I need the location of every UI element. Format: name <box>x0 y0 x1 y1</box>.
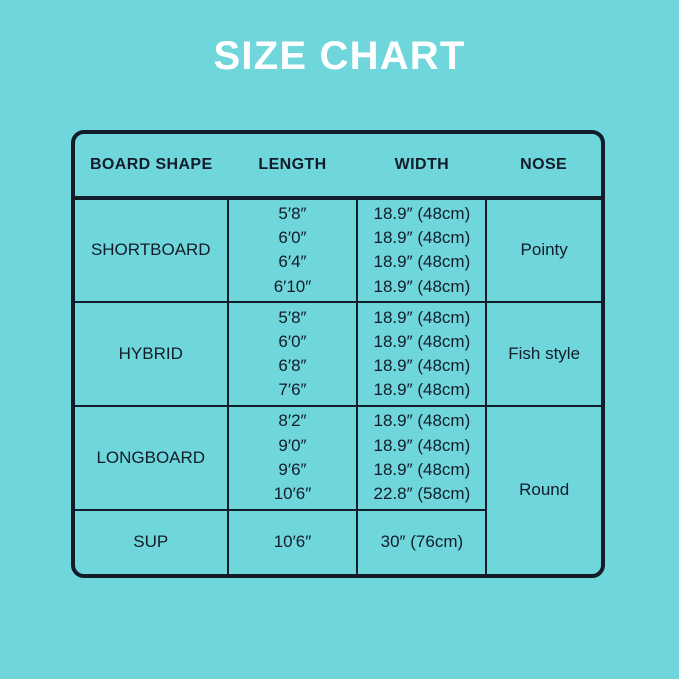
length-value: 6′8″ <box>278 354 306 378</box>
length-value: 6′0″ <box>278 226 306 250</box>
cell-length: 5′8″ 6′0″ 6′4″ 6′10″ <box>228 198 358 302</box>
width-value-list: 18.9″ (48cm) 18.9″ (48cm) 18.9″ (48cm) 1… <box>358 306 485 403</box>
cell-width: 18.9″ (48cm) 18.9″ (48cm) 18.9″ (48cm) 1… <box>357 302 486 406</box>
cell-board-shape: HYBRID <box>75 302 228 406</box>
width-value: 18.9″ (48cm) <box>374 354 471 378</box>
width-value-list: 30″ (76cm) <box>358 530 485 554</box>
cell-width: 18.9″ (48cm) 18.9″ (48cm) 18.9″ (48cm) 2… <box>357 406 486 510</box>
cell-nose: Round <box>486 406 601 574</box>
table-row: SHORTBOARD 5′8″ 6′0″ 6′4″ 6′10″ 18.9″ (4… <box>75 198 601 302</box>
length-value: 5′8″ <box>278 306 306 330</box>
size-chart-table-container: BOARD SHAPE LENGTH WIDTH NOSE SHORTBOARD… <box>71 130 605 578</box>
cell-width: 18.9″ (48cm) 18.9″ (48cm) 18.9″ (48cm) 1… <box>357 198 486 302</box>
width-value: 30″ (76cm) <box>381 530 464 554</box>
length-value: 6′4″ <box>278 250 306 274</box>
width-value: 18.9″ (48cm) <box>374 250 471 274</box>
width-value: 18.9″ (48cm) <box>374 275 471 299</box>
width-value: 18.9″ (48cm) <box>374 330 471 354</box>
cell-board-shape: LONGBOARD <box>75 406 228 510</box>
width-value: 18.9″ (48cm) <box>374 306 471 330</box>
length-value-list: 10′6″ <box>229 530 357 554</box>
length-value: 10′6″ <box>274 482 312 506</box>
table-row: LONGBOARD 8′2″ 9′0″ 9′6″ 10′6″ 18.9″ (48… <box>75 406 601 510</box>
length-value-list: 5′8″ 6′0″ 6′8″ 7′6″ <box>229 306 357 403</box>
width-value: 18.9″ (48cm) <box>374 434 471 458</box>
column-header-width: WIDTH <box>357 134 486 198</box>
width-value: 18.9″ (48cm) <box>374 378 471 402</box>
cell-length: 5′8″ 6′0″ 6′8″ 7′6″ <box>228 302 358 406</box>
column-header-nose: NOSE <box>486 134 601 198</box>
cell-length: 8′2″ 9′0″ 9′6″ 10′6″ <box>228 406 358 510</box>
length-value: 6′0″ <box>278 330 306 354</box>
table-header-row: BOARD SHAPE LENGTH WIDTH NOSE <box>75 134 601 198</box>
cell-board-shape: SHORTBOARD <box>75 198 228 302</box>
cell-length: 10′6″ <box>228 510 358 574</box>
width-value-list: 18.9″ (48cm) 18.9″ (48cm) 18.9″ (48cm) 2… <box>358 409 485 506</box>
column-header-length: LENGTH <box>228 134 358 198</box>
width-value: 22.8″ (58cm) <box>374 482 471 506</box>
length-value: 9′6″ <box>278 458 306 482</box>
length-value: 9′0″ <box>278 434 306 458</box>
length-value: 6′10″ <box>274 275 312 299</box>
table-row: HYBRID 5′8″ 6′0″ 6′8″ 7′6″ 18.9″ (48cm) … <box>75 302 601 406</box>
width-value-list: 18.9″ (48cm) 18.9″ (48cm) 18.9″ (48cm) 1… <box>358 202 485 299</box>
length-value: 10′6″ <box>274 530 312 554</box>
size-chart-table: BOARD SHAPE LENGTH WIDTH NOSE SHORTBOARD… <box>75 134 601 574</box>
cell-nose: Pointy <box>486 198 601 302</box>
length-value: 7′6″ <box>278 378 306 402</box>
length-value: 8′2″ <box>278 409 306 433</box>
width-value: 18.9″ (48cm) <box>374 226 471 250</box>
table-header: BOARD SHAPE LENGTH WIDTH NOSE <box>75 134 601 198</box>
length-value-list: 5′8″ 6′0″ 6′4″ 6′10″ <box>229 202 357 299</box>
length-value-list: 8′2″ 9′0″ 9′6″ 10′6″ <box>229 409 357 506</box>
column-header-board-shape: BOARD SHAPE <box>75 134 228 198</box>
cell-nose: Fish style <box>486 302 601 406</box>
width-value: 18.9″ (48cm) <box>374 202 471 226</box>
cell-board-shape: SUP <box>75 510 228 574</box>
width-value: 18.9″ (48cm) <box>374 409 471 433</box>
length-value: 5′8″ <box>278 202 306 226</box>
page-title: SIZE CHART <box>0 36 679 76</box>
size-chart-page: SIZE CHART BOARD SHAPE LENGTH WIDTH NOSE… <box>0 0 679 679</box>
width-value: 18.9″ (48cm) <box>374 458 471 482</box>
table-body: SHORTBOARD 5′8″ 6′0″ 6′4″ 6′10″ 18.9″ (4… <box>75 198 601 574</box>
cell-width: 30″ (76cm) <box>357 510 486 574</box>
